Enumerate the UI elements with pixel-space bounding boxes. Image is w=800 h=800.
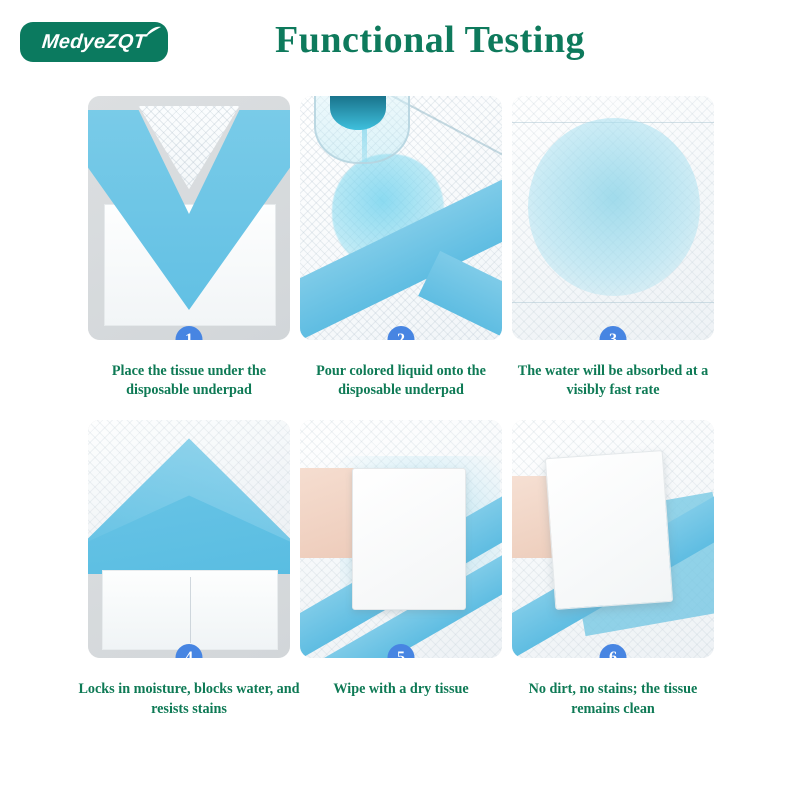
step-caption-4: Locks in moisture, blocks water, and res…: [73, 680, 305, 718]
step-photo-2: 2: [300, 96, 502, 340]
step-caption-3: The water will be absorbed at a visibly …: [512, 362, 714, 400]
steps-row-1: 1 Place the tissue under the disposable …: [88, 96, 716, 400]
dry-tissue-shape: [352, 468, 466, 610]
step-caption-2: Pour colored liquid onto the disposable …: [300, 362, 502, 400]
page-header: MedyeZQT Functional Testing: [0, 0, 800, 88]
step-caption-1: Place the tissue under the disposable un…: [88, 362, 290, 400]
step-card-2: 2 Pour colored liquid onto the disposabl…: [300, 96, 502, 400]
white-tissue-shape: [102, 570, 278, 650]
step-card-5: 5 Wipe with a dry tissue: [300, 420, 502, 718]
pad-seam-shape: [512, 302, 714, 303]
step-card-1: 1 Place the tissue under the disposable …: [88, 96, 290, 400]
absorbed-stain-shape: [528, 118, 700, 296]
step-caption-5: Wipe with a dry tissue: [300, 680, 502, 699]
step-photo-1: 1: [88, 96, 290, 340]
steps-row-2: 4 Locks in moisture, blocks water, and r…: [88, 420, 716, 718]
step-photo-3: 3: [512, 96, 714, 340]
step-card-6: 6 No dirt, no stains; the tissue remains…: [512, 420, 714, 718]
steps-grid: 1 Place the tissue under the disposable …: [88, 96, 716, 719]
step-photo-5: 5: [300, 420, 502, 658]
step-photo-4: 4: [88, 420, 290, 658]
clean-tissue-shape: [545, 450, 673, 610]
page-title: Functional Testing: [0, 18, 800, 62]
step-caption-6: No dirt, no stains; the tissue remains c…: [512, 680, 714, 718]
step-photo-6: 6: [512, 420, 714, 658]
step-card-4: 4 Locks in moisture, blocks water, and r…: [88, 420, 290, 718]
functional-testing-infographic: MedyeZQT Functional Testing 1 Place the …: [0, 0, 800, 800]
step-card-3: 3 The water will be absorbed at a visibl…: [512, 96, 714, 400]
